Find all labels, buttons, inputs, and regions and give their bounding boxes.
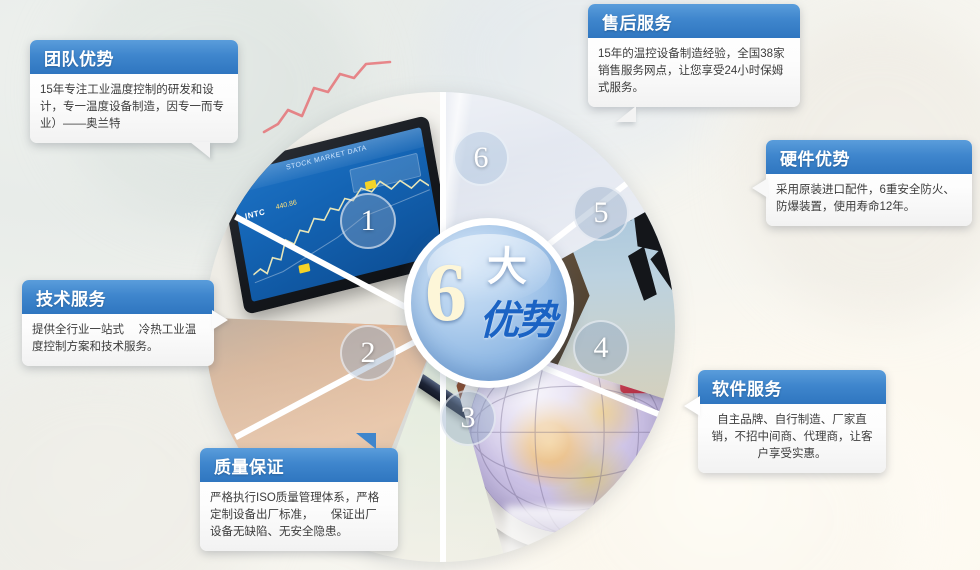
callout-body: 自主品牌、自行制造、厂家直销，不招中间商、代理商，让客户享受实惠。	[698, 404, 886, 473]
segment-number-1[interactable]: 1	[340, 193, 396, 249]
callout-hardware-advantage[interactable]: 硬件优势 采用原装进口配件，6重安全防火、防爆装置，使用寿命12年。	[766, 140, 972, 226]
callout-header: 硬件优势	[766, 140, 972, 174]
callout-tail	[356, 433, 376, 449]
callout-team-advantage[interactable]: 团队优势 15年专注工业温度控制的研发和设计，专一温度设备制造，因专一而专业）—…	[30, 40, 238, 143]
segment-number-6[interactable]: 6	[453, 130, 509, 186]
callout-header: 质量保证	[200, 448, 398, 482]
callout-body: 采用原装进口配件，6重安全防火、防爆装置，使用寿命12年。	[766, 174, 972, 226]
callout-header: 软件服务	[698, 370, 886, 404]
callout-title: 质量保证	[214, 453, 284, 478]
callout-tail	[190, 142, 210, 158]
callout-body: 严格执行ISO质量管理体系，严格定制设备出厂标准， 保证出厂设备无缺陷、无安全隐…	[200, 482, 398, 551]
callout-title: 技术服务	[36, 285, 106, 310]
segment-number-2[interactable]: 2	[340, 325, 396, 381]
callout-tail	[684, 396, 700, 416]
callout-technical-service[interactable]: 技术服务 提供全行业一站式 冷热工业温度控制方案和技术服务。	[22, 280, 214, 366]
callout-header: 技术服务	[22, 280, 214, 314]
callout-header: 团队优势	[30, 40, 238, 74]
callout-tail	[212, 310, 228, 330]
segment-number-3[interactable]: 3	[440, 390, 496, 446]
callout-tail	[752, 178, 768, 198]
callout-tail	[616, 106, 636, 122]
infographic-canvas: STOCK MARKET DATA INTC 440.86	[0, 0, 980, 570]
callout-title: 软件服务	[712, 375, 782, 400]
center-badge: 6 大 优势	[404, 218, 574, 388]
chart-marker	[298, 263, 310, 274]
callout-body: 提供全行业一站式 冷热工业温度控制方案和技术服务。	[22, 314, 214, 366]
segment-number-4[interactable]: 4	[573, 320, 629, 376]
foreground-paper-glare	[505, 506, 675, 562]
center-big-char: 大	[487, 247, 527, 287]
center-script-text: 优势	[479, 299, 555, 343]
callout-after-sales-service[interactable]: 售后服务 15年的温控设备制造经验，全国38家销售服务网点，让您享受24小时保姆…	[588, 4, 800, 107]
callout-title: 团队优势	[44, 45, 114, 70]
callout-body: 15年的温控设备制造经验，全国38家销售服务网点，让您享受24小时保姆式服务。	[588, 38, 800, 107]
segment-number-5[interactable]: 5	[573, 185, 629, 241]
callout-header: 售后服务	[588, 4, 800, 38]
callout-quality-assurance[interactable]: 质量保证 严格执行ISO质量管理体系，严格定制设备出厂标准， 保证出厂设备无缺陷…	[200, 448, 398, 551]
callout-body: 15年专注工业温度控制的研发和设计，专一温度设备制造，因专一而专业）——奥兰特	[30, 74, 238, 143]
callout-title: 售后服务	[602, 9, 672, 34]
callout-title: 硬件优势	[780, 145, 850, 170]
center-number: 6	[425, 251, 467, 335]
callout-software-service[interactable]: 软件服务 自主品牌、自行制造、厂家直销，不招中间商、代理商，让客户享受实惠。	[698, 370, 886, 473]
